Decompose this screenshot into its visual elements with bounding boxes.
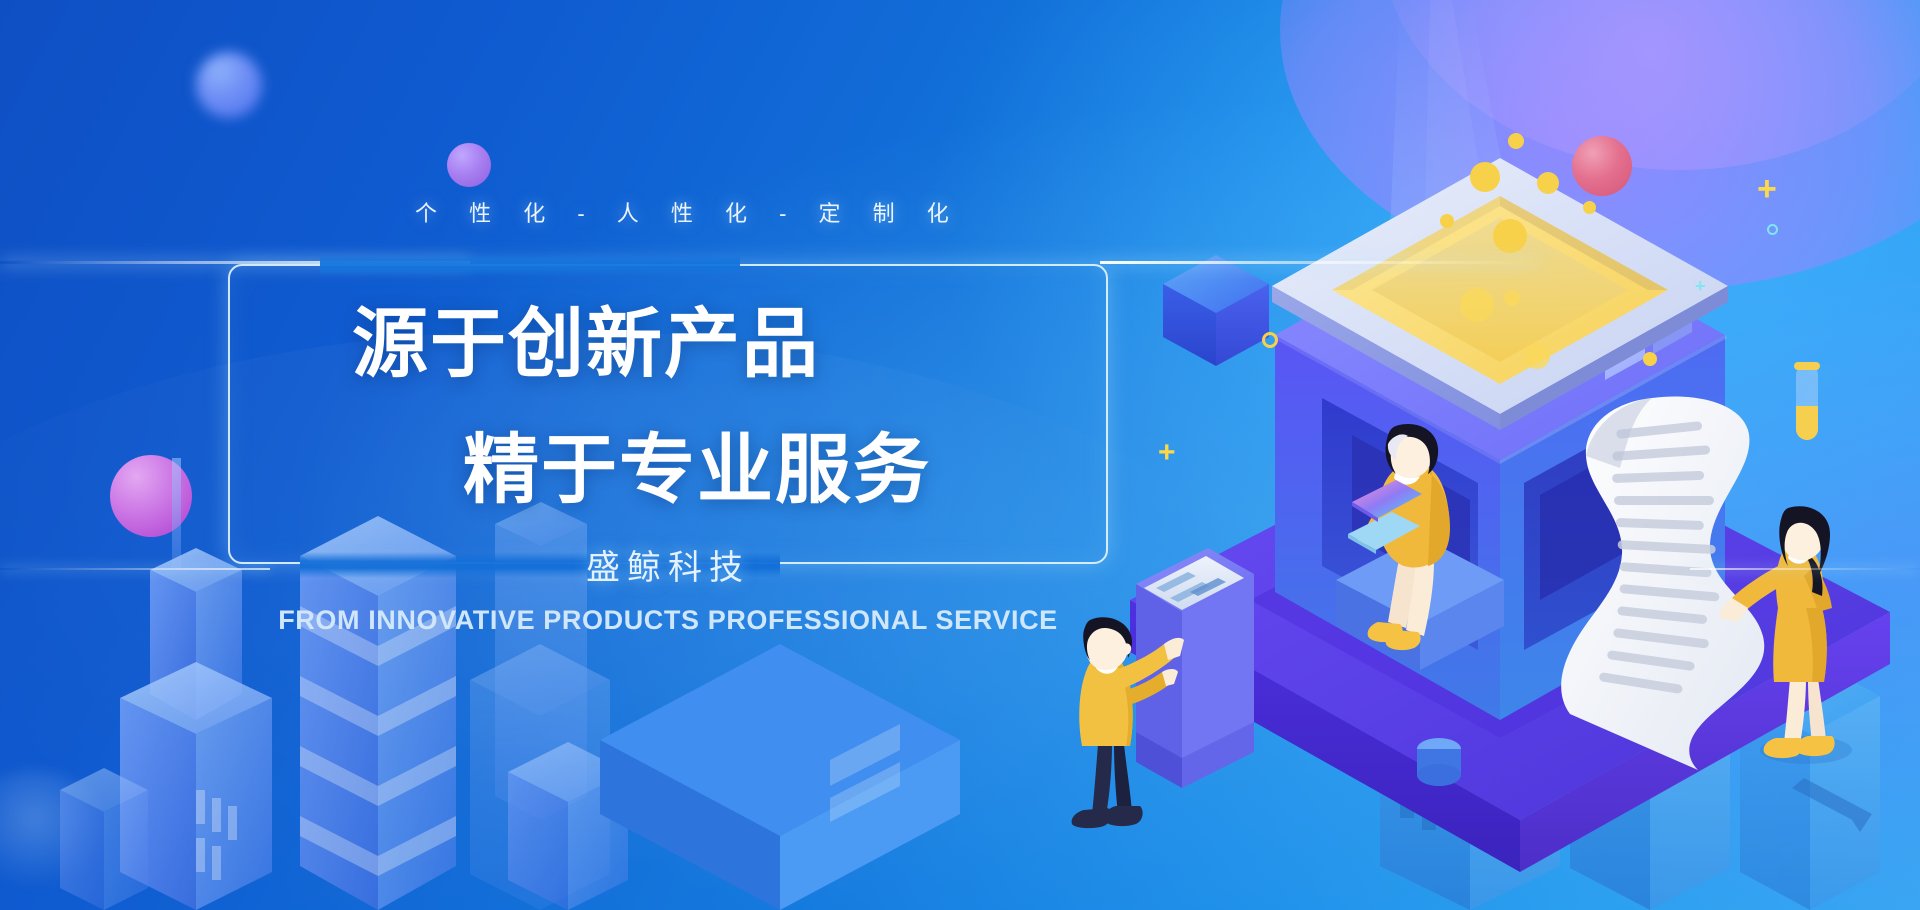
purple-glow-top-right-inner [1380,0,1920,170]
kicker-text: 个 性 化 - 人 性 化 - 定 制 化 [415,196,915,228]
sphere-blue-blurred-top-left [196,52,262,118]
banner-root: + + + 个 性 化 - 人 性 化 - 定 制 化 源于创新产品 精于专业服… [0,0,1920,910]
golden-glowing-box [1272,158,1728,430]
small-cylinder-icon [1414,735,1464,795]
floating-cube-icon [1158,250,1278,370]
sphere-magenta-mid-left [110,455,192,537]
yellow-capsule-icon [1788,362,1828,452]
plus-mark-icon-1: + [1158,438,1176,468]
divider-glow-right [1100,261,1540,264]
city-skyline-right [1380,600,1920,910]
ring-outline-icon-1 [1262,332,1278,348]
headline-line-2: 精于专业服务 [463,408,931,518]
divider-glow-right-lower [1690,568,1920,570]
plus-mark-icon-3: + [1695,277,1706,295]
brand-name: 盛鲸科技 [228,540,1108,589]
sphere-purple-small-top-left [447,143,491,187]
blue-cube-kiosk [1273,208,1727,720]
ring-outline-icon-2 [1767,224,1778,235]
down-right-arrow-icon [1792,778,1872,832]
figure-standing-woman [1720,506,1852,764]
frame-gap-top-mask [320,254,740,276]
figure-seated-woman [1336,424,1504,670]
headline-line-1: 源于创新产品 [352,282,820,392]
tagline-text: FROM INNOVATIVE PRODUCTS PROFESSIONAL SE… [228,605,1108,636]
sphere-pink-top-right [1572,136,1632,196]
plus-mark-icon-2: + [1757,172,1777,206]
paper-receipt [1561,396,1764,770]
